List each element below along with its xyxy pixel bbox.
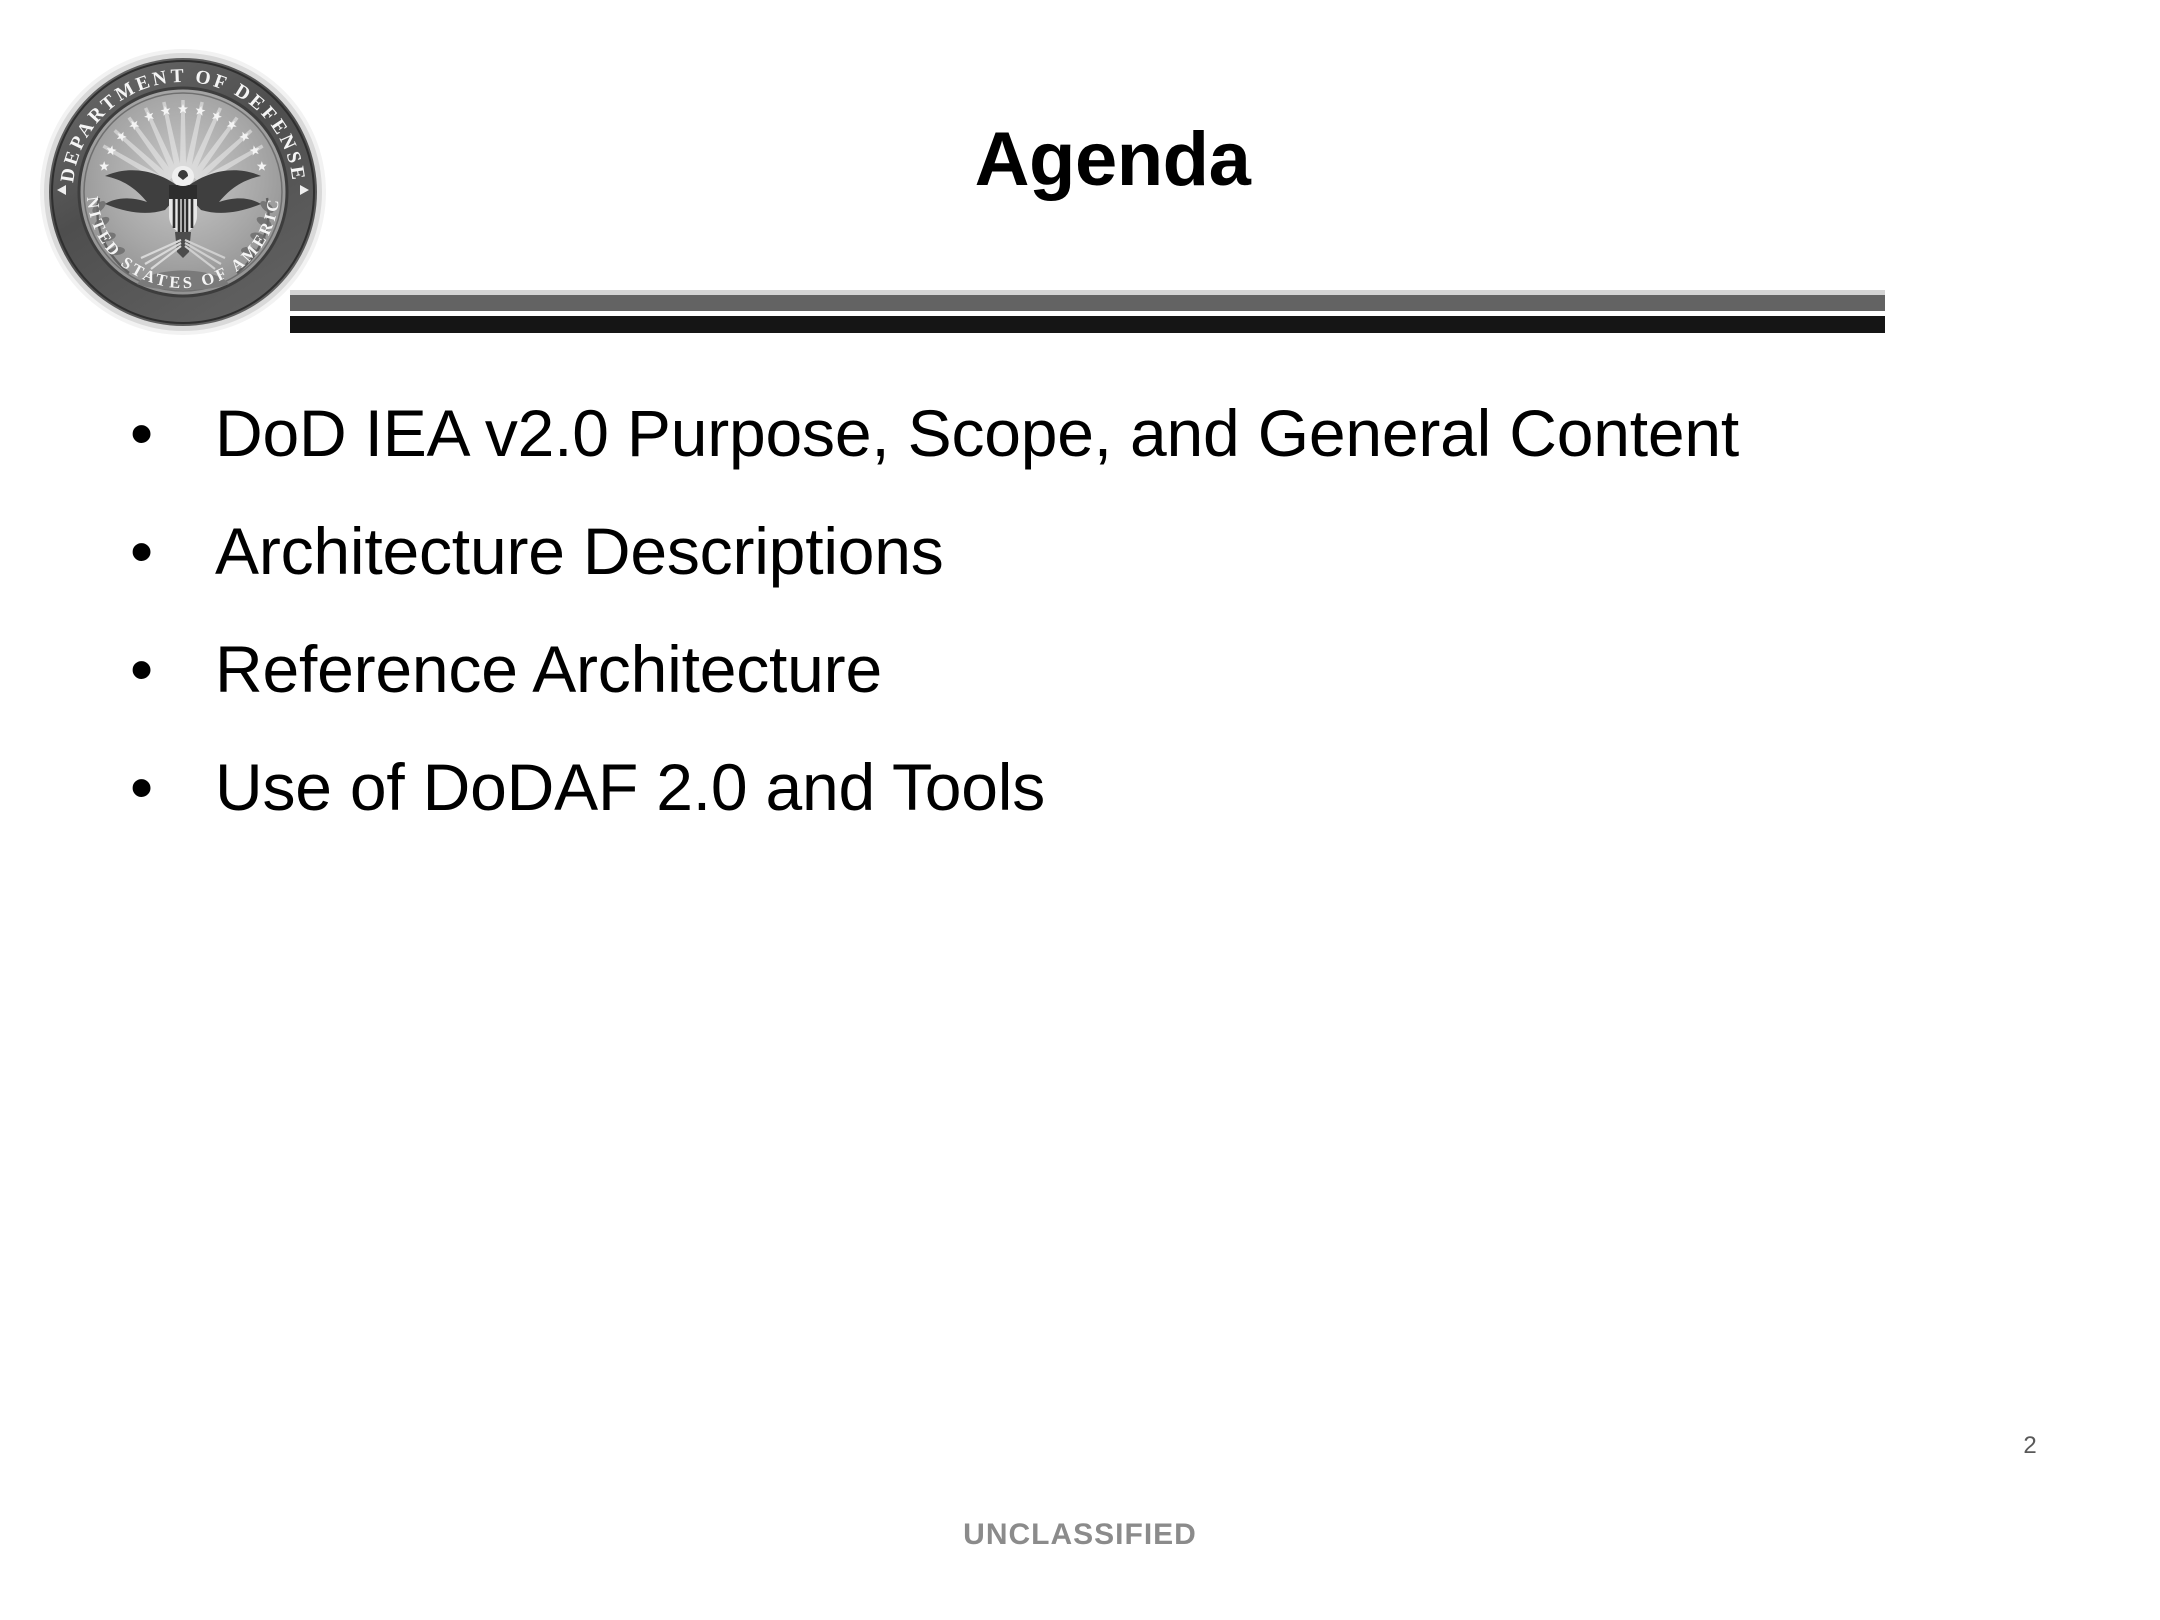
list-item: • Architecture Descriptions xyxy=(120,508,1870,594)
dod-seal-icon: DEPARTMENT OF DEFENSE UNITED STATES OF A… xyxy=(33,40,333,340)
slide-title: Agenda xyxy=(340,122,1885,198)
title-divider xyxy=(290,290,1885,335)
bullet-point-icon: • xyxy=(120,626,215,712)
list-item: • DoD IEA v2.0 Purpose, Scope, and Gener… xyxy=(120,390,1870,476)
list-item-label: Architecture Descriptions xyxy=(215,508,1870,594)
list-item: • Reference Architecture xyxy=(120,626,1870,712)
divider-gray-bar xyxy=(290,295,1885,311)
list-item-label: DoD IEA v2.0 Purpose, Scope, and General… xyxy=(215,390,1775,476)
list-item: • Use of DoDAF 2.0 and Tools xyxy=(120,744,1870,830)
bullet-point-icon: • xyxy=(120,390,215,476)
bullet-point-icon: • xyxy=(120,508,215,594)
bullet-point-icon: • xyxy=(120,744,215,830)
classification-banner: UNCLASSIFIED xyxy=(0,1518,2160,1552)
agenda-bullet-list: • DoD IEA v2.0 Purpose, Scope, and Gener… xyxy=(120,390,1870,862)
divider-black-bar xyxy=(290,316,1885,333)
slide-canvas: DEPARTMENT OF DEFENSE UNITED STATES OF A… xyxy=(0,0,2160,1620)
page-number: 2 xyxy=(2000,1432,2060,1460)
list-item-label: Reference Architecture xyxy=(215,626,1870,712)
list-item-label: Use of DoDAF 2.0 and Tools xyxy=(215,744,1870,830)
